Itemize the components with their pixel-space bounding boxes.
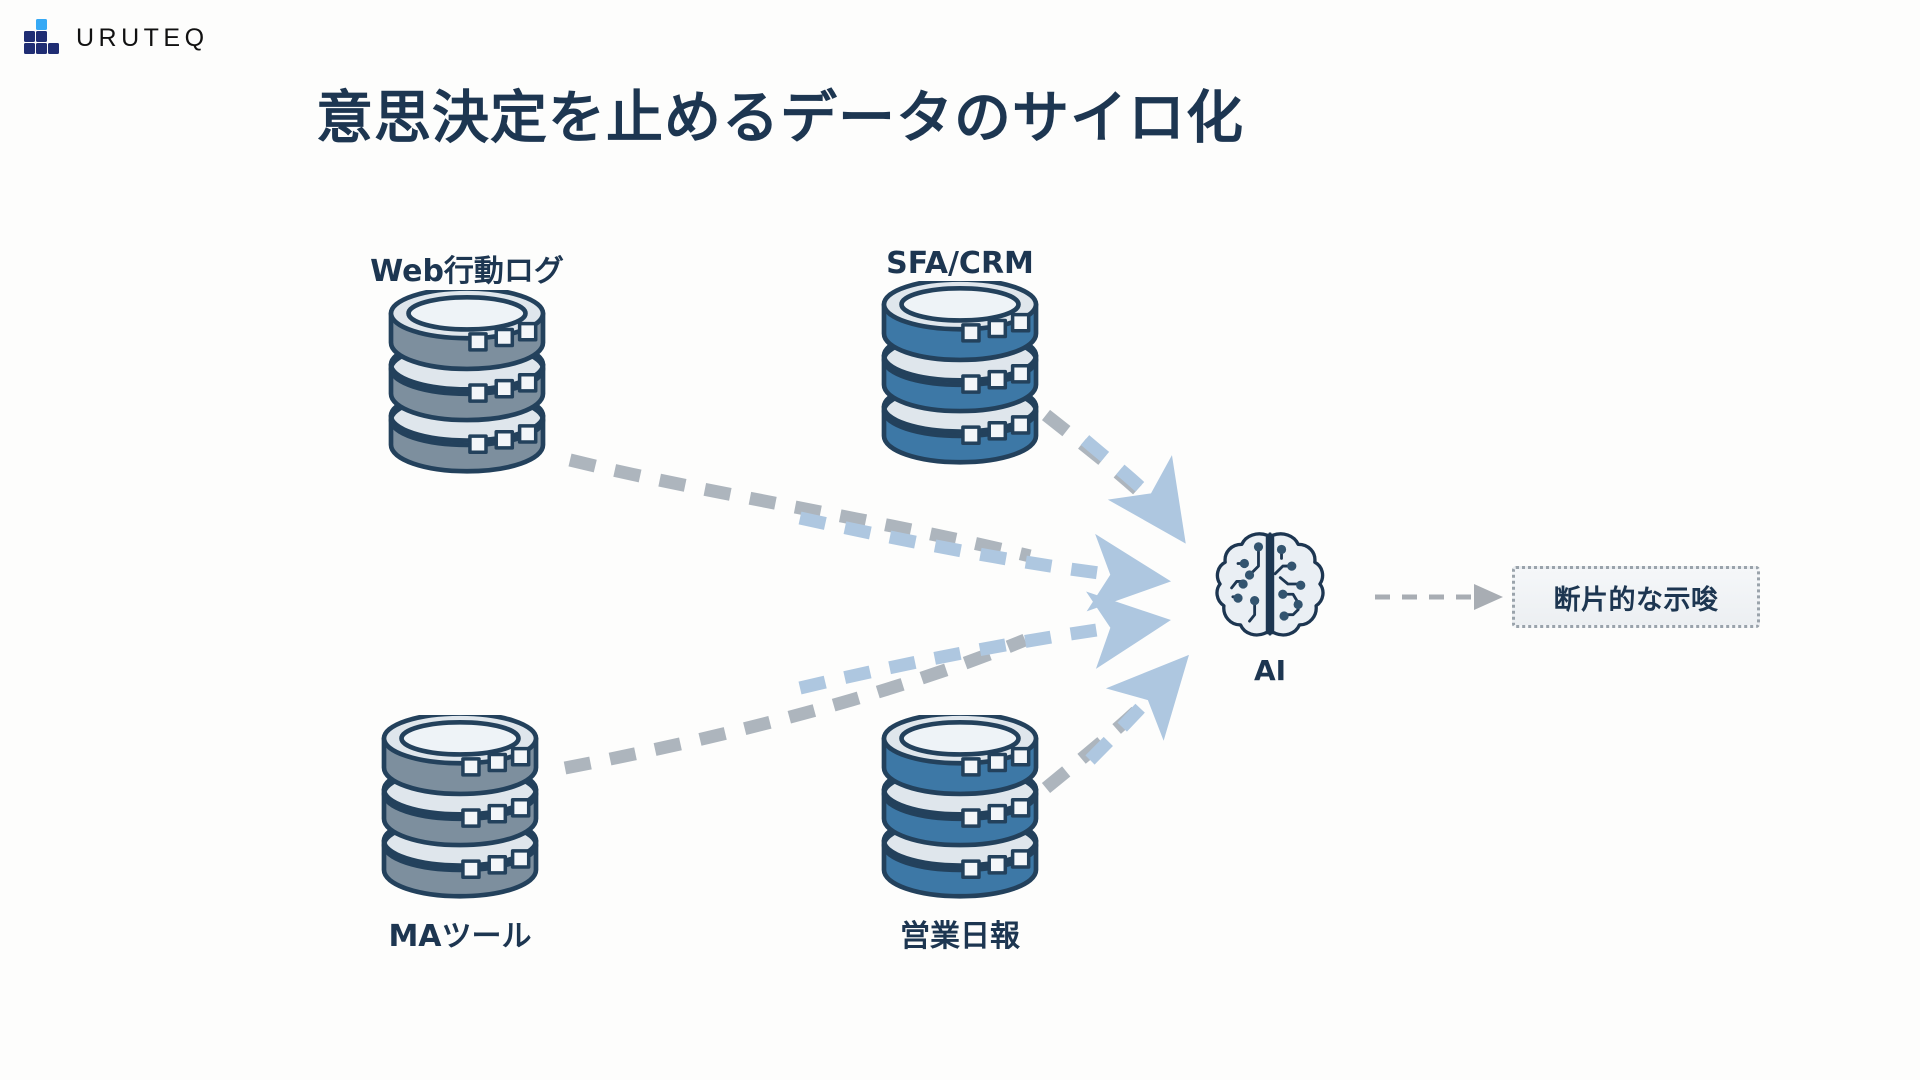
outcome-box[interactable]: 断片的な示唆 <box>1512 566 1760 628</box>
database-icon <box>372 290 562 480</box>
source-node-ma-tool[interactable]: MAツール <box>345 715 575 955</box>
source-label-sfa-crm: SFA/CRM <box>845 246 1075 281</box>
connector-daily-report-blue <box>1090 678 1168 760</box>
slide-canvas: URUTEQ 意思決定を止めるデータのサイロ化 <box>0 0 1920 1080</box>
data-flow-diagram: Web行動ログ <box>0 0 1920 1080</box>
connector-web-log-gray <box>570 460 1030 556</box>
source-node-daily-report[interactable]: 営業日報 <box>845 715 1075 955</box>
database-icon <box>865 281 1055 471</box>
connector-sfa-crm-blue <box>1085 440 1168 518</box>
source-label-web-log: Web行動ログ <box>352 246 582 290</box>
ai-hub-node[interactable]: AI <box>1175 520 1365 687</box>
source-label-ma-tool: MAツール <box>345 911 575 955</box>
database-icon <box>865 715 1055 905</box>
source-node-web-log[interactable]: Web行動ログ <box>352 246 582 480</box>
database-icon <box>365 715 555 905</box>
source-label-daily-report: 営業日報 <box>845 911 1075 955</box>
source-node-sfa-crm[interactable]: SFA/CRM <box>845 246 1075 471</box>
brain-circuit-icon <box>1206 520 1334 648</box>
ai-hub-label: AI <box>1175 654 1365 687</box>
outcome-label: 断片的な示唆 <box>1554 578 1719 617</box>
connector-web-log-blue <box>800 518 1140 578</box>
